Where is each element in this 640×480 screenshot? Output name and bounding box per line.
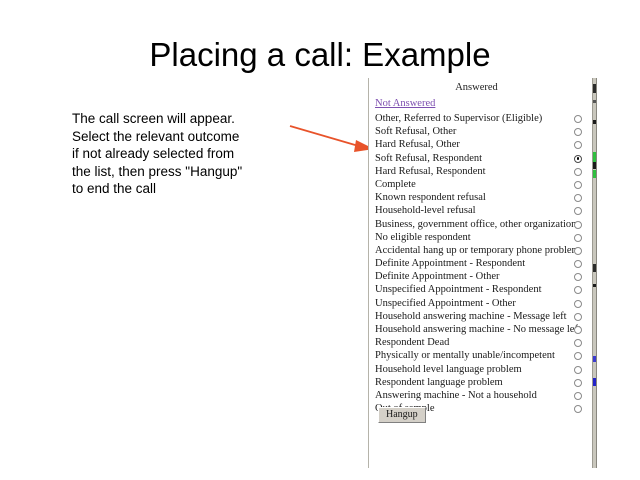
scrollbar-mark	[593, 356, 596, 362]
outcome-radio[interactable]	[574, 247, 582, 255]
outcome-row[interactable]: Respondent Dead	[369, 336, 593, 349]
not-answered-link[interactable]: Not Answered	[375, 98, 435, 109]
outcome-label: Respondent Dead	[375, 336, 449, 349]
outcome-row[interactable]: Hard Refusal, Other	[369, 138, 593, 151]
scrollbar-mark	[593, 84, 596, 93]
outcome-row[interactable]: Household level language problem	[369, 363, 593, 376]
outcome-radio[interactable]	[574, 339, 582, 347]
outcome-row[interactable]: Known respondent refusal	[369, 191, 593, 204]
outcome-label: Other, Referred to Supervisor (Eligible)	[375, 112, 542, 125]
outcome-row[interactable]: Physically or mentally unable/incompeten…	[369, 349, 593, 362]
outcome-label: No eligible respondent	[375, 231, 471, 244]
outcome-label: Known respondent refusal	[375, 191, 486, 204]
scrollbar-mark	[593, 378, 596, 386]
outcome-label: Hard Refusal, Respondent	[375, 165, 486, 178]
outcome-list: Other, Referred to Supervisor (Eligible)…	[369, 112, 593, 415]
scrollbar-mark	[593, 284, 596, 287]
scrollbar-mark	[593, 170, 596, 178]
outcome-row[interactable]: Respondent language problem	[369, 376, 593, 389]
outcome-label: Definite Appointment - Other	[375, 270, 500, 283]
outcome-row[interactable]: Household answering machine - No message…	[369, 323, 593, 336]
outcome-label: Answering machine - Not a household	[375, 389, 537, 402]
outcome-radio[interactable]	[574, 366, 582, 374]
body-text-block: The call screen will appear. Select the …	[72, 110, 287, 198]
scrollbar-mark	[593, 264, 596, 272]
outcome-row[interactable]: Business, government office, other organ…	[369, 218, 593, 231]
outcome-row[interactable]: Household-level refusal	[369, 204, 593, 217]
outcome-radio[interactable]	[574, 286, 582, 294]
outcome-radio[interactable]	[574, 141, 582, 149]
scrollbar-mark	[593, 100, 596, 103]
outcome-row[interactable]: Accidental hang up or temporary phone pr…	[369, 244, 593, 257]
outcome-row[interactable]: Soft Refusal, Other	[369, 125, 593, 138]
slide-canvas: Placing a call: Example The call screen …	[0, 0, 640, 480]
body-text-line: The call screen will appear.	[72, 110, 287, 128]
outcome-row[interactable]: Soft Refusal, Respondent	[369, 152, 593, 165]
outcome-radio[interactable]	[574, 234, 582, 242]
body-text-line: the list, then press "Hangup"	[72, 163, 287, 181]
outcome-row[interactable]: Definite Appointment - Respondent	[369, 257, 593, 270]
outcome-label: Definite Appointment - Respondent	[375, 257, 525, 270]
outcome-radio[interactable]	[574, 326, 582, 334]
outcome-radio[interactable]	[574, 273, 582, 281]
outcome-row[interactable]: No eligible respondent	[369, 231, 593, 244]
body-text-line: if not already selected from	[72, 145, 287, 163]
outcome-row[interactable]: Unspecified Appointment - Other	[369, 297, 593, 310]
outcome-radio[interactable]	[574, 155, 582, 163]
outcome-row[interactable]: Definite Appointment - Other	[369, 270, 593, 283]
outcome-label: Physically or mentally unable/incompeten…	[375, 349, 555, 362]
outcome-radio[interactable]	[574, 260, 582, 268]
pointer-arrow-icon	[288, 122, 378, 162]
page-title: Placing a call: Example	[0, 36, 640, 74]
outcome-label: Soft Refusal, Respondent	[375, 152, 482, 165]
outcome-radio[interactable]	[574, 300, 582, 308]
outcome-radio[interactable]	[574, 168, 582, 176]
outcome-row[interactable]: Complete	[369, 178, 593, 191]
scrollbar-mark	[593, 120, 596, 124]
outcome-radio[interactable]	[574, 128, 582, 136]
hangup-button[interactable]: Hangup	[378, 407, 426, 423]
scrollbar-mark	[593, 162, 596, 169]
outcome-radio[interactable]	[574, 194, 582, 202]
outcome-label: Household answering machine - Message le…	[375, 310, 567, 323]
outcome-label: Respondent language problem	[375, 376, 503, 389]
outcome-label: Business, government office, other organ…	[375, 218, 576, 231]
outcome-row[interactable]: Other, Referred to Supervisor (Eligible)	[369, 112, 593, 125]
answered-header: Answered	[369, 82, 584, 93]
call-screen-panel: Answered Not Answered Other, Referred to…	[368, 78, 597, 468]
outcome-row[interactable]: Unspecified Appointment - Respondent	[369, 283, 593, 296]
outcome-label: Household level language problem	[375, 363, 522, 376]
outcome-radio[interactable]	[574, 221, 582, 229]
body-text-line: Select the relevant outcome	[72, 128, 287, 146]
outcome-label: Soft Refusal, Other	[375, 125, 456, 138]
outcome-radio[interactable]	[574, 392, 582, 400]
body-text-line: to end the call	[72, 180, 287, 198]
outcome-row[interactable]: Hard Refusal, Respondent	[369, 165, 593, 178]
outcome-label: Unspecified Appointment - Other	[375, 297, 516, 310]
outcome-radio[interactable]	[574, 207, 582, 215]
outcome-label: Household answering machine - No message…	[375, 323, 581, 336]
outcome-label: Complete	[375, 178, 416, 191]
scrollbar-mark	[593, 152, 596, 162]
outcome-radio[interactable]	[574, 115, 582, 123]
outcome-label: Hard Refusal, Other	[375, 138, 460, 151]
outcome-label: Household-level refusal	[375, 204, 476, 217]
outcome-label: Unspecified Appointment - Respondent	[375, 283, 542, 296]
outcome-radio[interactable]	[574, 352, 582, 360]
outcome-label: Accidental hang up or temporary phone pr…	[375, 244, 580, 257]
panel-scrollbar[interactable]	[592, 78, 596, 468]
outcome-radio[interactable]	[574, 405, 582, 413]
outcome-radio[interactable]	[574, 181, 582, 189]
outcome-radio[interactable]	[574, 313, 582, 321]
outcome-radio[interactable]	[574, 379, 582, 387]
outcome-row[interactable]: Answering machine - Not a household	[369, 389, 593, 402]
outcome-row[interactable]: Household answering machine - Message le…	[369, 310, 593, 323]
